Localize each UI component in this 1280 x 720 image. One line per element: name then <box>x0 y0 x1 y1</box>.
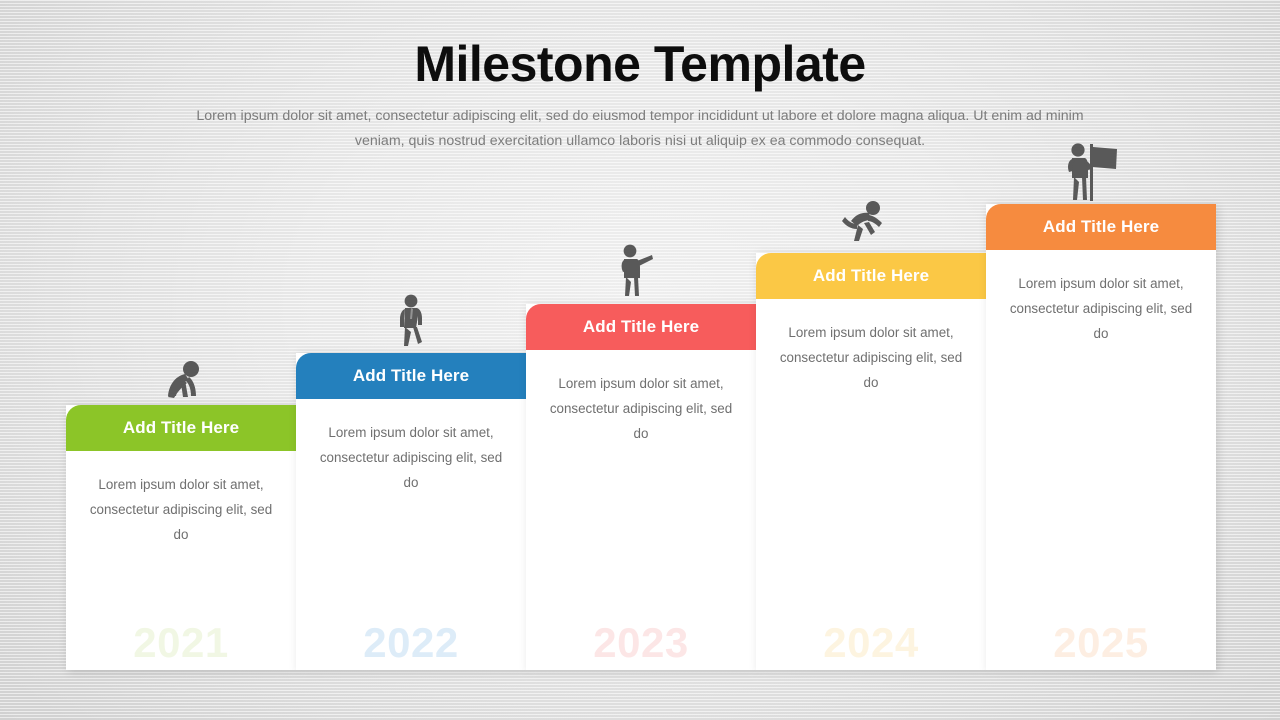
slide-canvas: Milestone Template Lorem ipsum dolor sit… <box>0 0 1280 720</box>
milestone-columns: Add Title HereLorem ipsum dolor sit amet… <box>66 140 1216 670</box>
milestone-description: Lorem ipsum dolor sit amet, consectetur … <box>296 399 526 495</box>
crawling-baby-icon <box>158 360 204 400</box>
milestone-year: 2022 <box>296 622 526 664</box>
pointing-person-icon <box>616 244 656 298</box>
milestone-description: Lorem ipsum dolor sit amet, consectetur … <box>66 451 296 547</box>
running-person-icon <box>838 199 886 243</box>
person-with-flag-icon <box>1063 142 1121 202</box>
milestone-card[interactable]: Add Title HereLorem ipsum dolor sit amet… <box>296 353 526 670</box>
milestone-year: 2024 <box>756 622 986 664</box>
milestone-card[interactable]: Add Title HereLorem ipsum dolor sit amet… <box>756 253 986 670</box>
milestone-title: Add Title Here <box>583 317 699 337</box>
header-block: Milestone Template Lorem ipsum dolor sit… <box>0 36 1280 155</box>
milestone-title: Add Title Here <box>123 418 239 438</box>
milestone-card-header[interactable]: Add Title Here <box>756 253 986 299</box>
milestone-card-header[interactable]: Add Title Here <box>526 304 756 350</box>
milestone-description: Lorem ipsum dolor sit amet, consectetur … <box>526 350 756 446</box>
milestone-description: Lorem ipsum dolor sit amet, consectetur … <box>756 299 986 395</box>
milestone-description: Lorem ipsum dolor sit amet, consectetur … <box>986 250 1216 346</box>
milestone-card[interactable]: Add Title HereLorem ipsum dolor sit amet… <box>986 204 1216 670</box>
walking-person-icon <box>392 294 428 348</box>
milestone-card[interactable]: Add Title HereLorem ipsum dolor sit amet… <box>526 304 756 670</box>
milestone-title: Add Title Here <box>1043 217 1159 237</box>
milestone-title: Add Title Here <box>813 266 929 286</box>
milestone-title: Add Title Here <box>353 366 469 386</box>
milestone-year: 2021 <box>66 622 296 664</box>
milestone-card-header[interactable]: Add Title Here <box>986 204 1216 250</box>
milestone-card-header[interactable]: Add Title Here <box>66 405 296 451</box>
milestone-card-header[interactable]: Add Title Here <box>296 353 526 399</box>
page-title: Milestone Template <box>0 36 1280 92</box>
milestone-year: 2023 <box>526 622 756 664</box>
milestone-card[interactable]: Add Title HereLorem ipsum dolor sit amet… <box>66 405 296 670</box>
milestone-year: 2025 <box>986 622 1216 664</box>
